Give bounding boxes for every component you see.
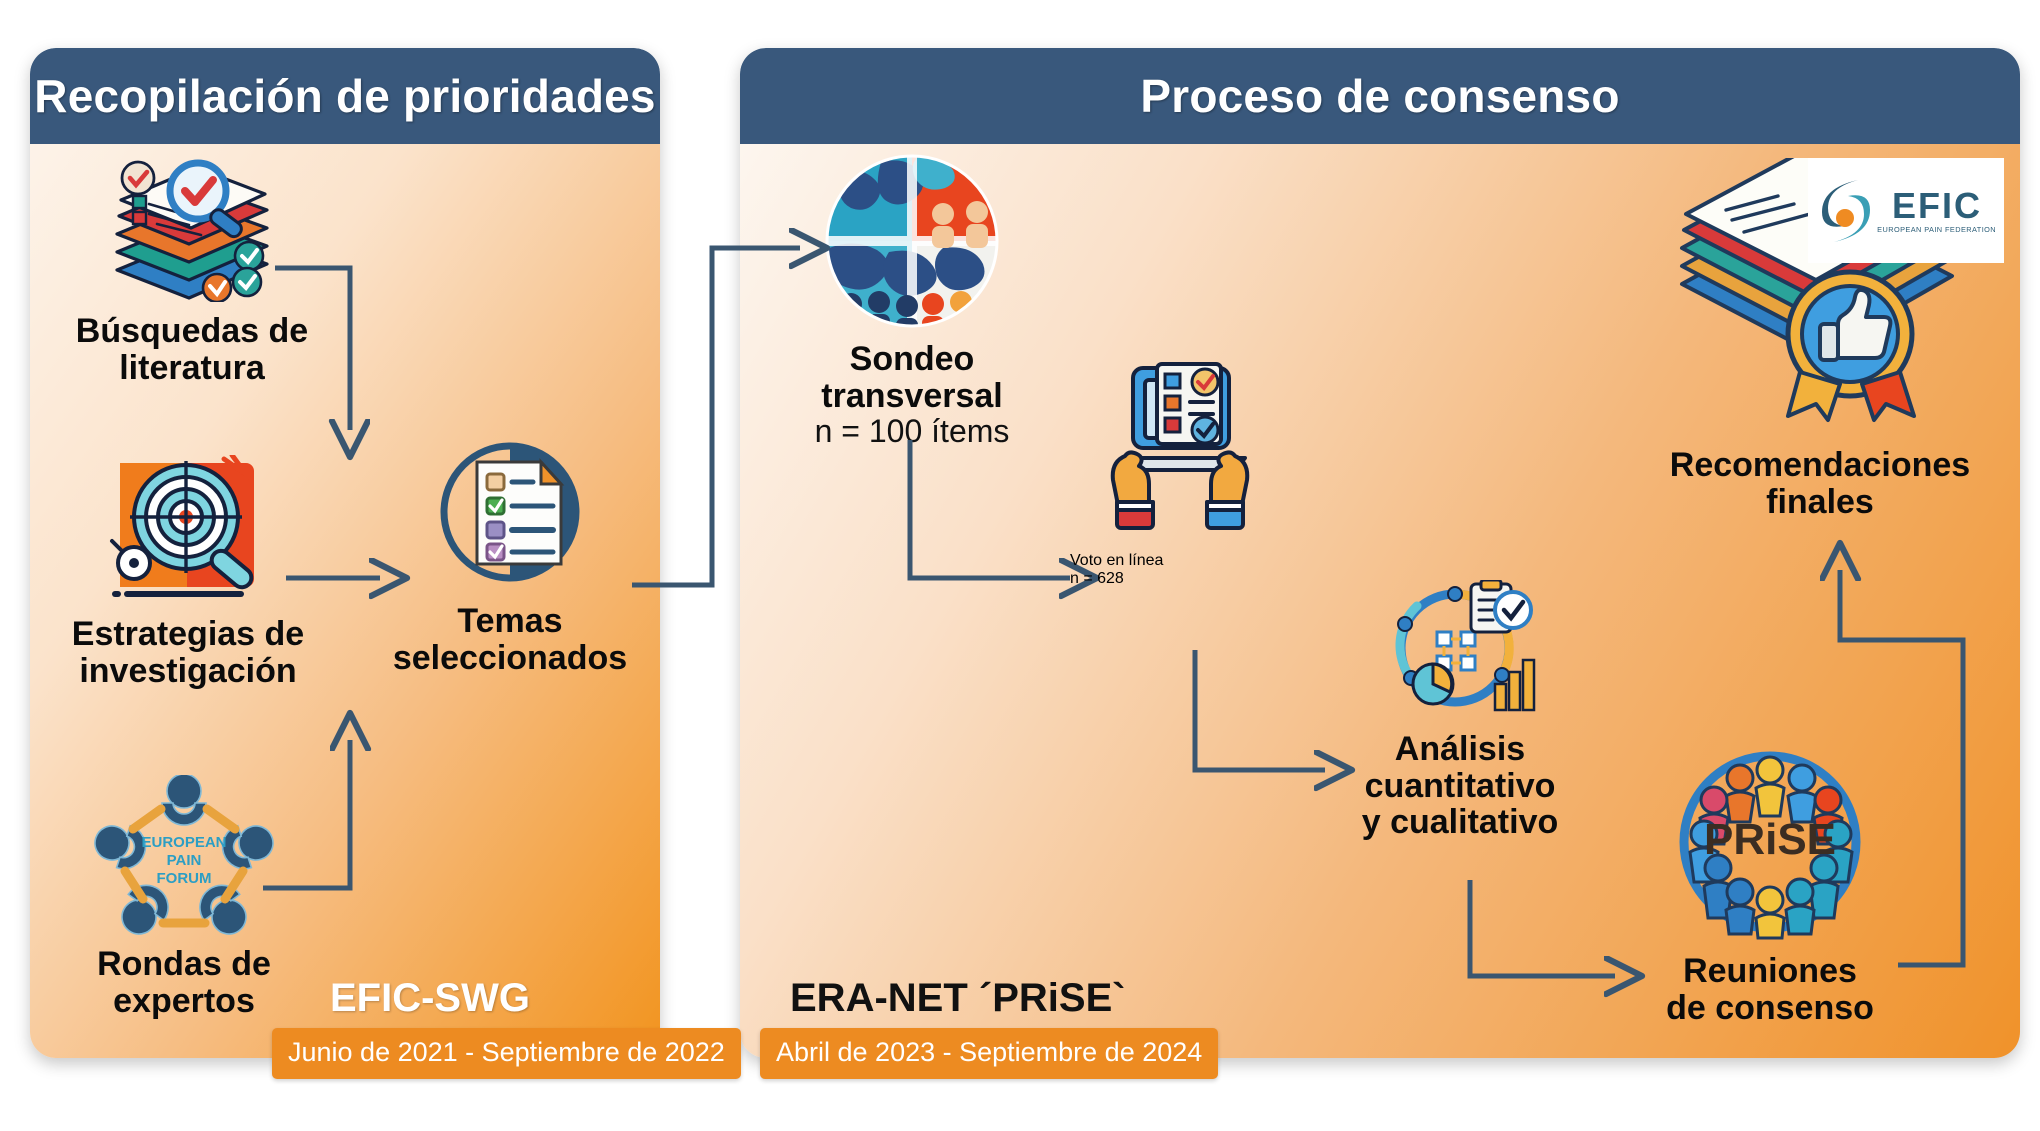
node-selected-topics-label: Temas seleccionados xyxy=(393,603,627,676)
date-badge-left: Junio de 2021 - Septiembre de 2022 xyxy=(272,1028,741,1079)
node-online-vote xyxy=(1010,350,1350,535)
efic-logo-subtitle: EUROPEAN PAIN FEDERATION xyxy=(1878,227,1997,234)
analytics-chart-icon xyxy=(1375,580,1545,725)
date-badge-right: Abril de 2023 - Septiembre de 2024 xyxy=(760,1028,1218,1079)
node-online-vote-text: Voto en línea n = 628 xyxy=(1070,552,1370,588)
efic-logo-text: EFIC xyxy=(1892,188,1982,224)
epf-line3: FORUM xyxy=(157,870,212,887)
european-pain-forum-logo-icon: EUROPEAN PAIN FORUM xyxy=(89,775,279,940)
node-online-vote-label: Voto en línea xyxy=(1070,552,1370,570)
node-research-strategies: Estrategias de investigación xyxy=(38,455,338,689)
node-consensus-meetings: PRiSE Reuniones de consenso xyxy=(1620,742,1920,1026)
epf-line1: EUROPEAN xyxy=(141,834,226,851)
efic-swoosh-icon xyxy=(1818,176,1874,246)
node-expert-rounds-label: Rondas de expertos xyxy=(97,946,271,1019)
panel-right-header: Proceso de consenso xyxy=(740,48,2020,144)
prise-logo-icon: PRiSE xyxy=(1670,742,1870,947)
prise-logo-text: PRiSE xyxy=(1704,815,1836,864)
panel-left-header: Recopilación de prioridades xyxy=(30,48,660,144)
node-survey-label: Sondeo transversal xyxy=(821,341,1002,414)
panel-right-title: Proceso de consenso xyxy=(1140,69,1619,123)
document-stack-search-icon xyxy=(97,152,287,307)
label-era-net-prise: ERA-NET ´PRiSE` xyxy=(790,976,1126,1021)
globe-people-icon xyxy=(823,152,1001,335)
efic-logo: EFIC EUROPEAN PAIN FEDERATION xyxy=(1808,158,2004,263)
hands-ballot-icon xyxy=(1095,350,1265,535)
node-consensus-meetings-label: Reuniones de consenso xyxy=(1666,953,1874,1026)
epf-line2: PAIN xyxy=(167,852,202,869)
label-efic-swg: EFIC-SWG xyxy=(330,976,530,1021)
node-expert-rounds: EUROPEAN PAIN FORUM Rondas de expertos xyxy=(34,775,334,1019)
node-final-recommendations-label: Recomendaciones finales xyxy=(1670,447,1970,520)
node-research-strategies-label: Estrategias de investigación xyxy=(72,616,304,689)
node-selected-topics: Temas seleccionados xyxy=(360,432,660,676)
node-analysis: Análisis cuantitativo y cualitativo xyxy=(1300,580,1620,841)
node-literature-label: Búsquedas de literatura xyxy=(76,313,308,386)
checklist-circle-icon xyxy=(415,432,605,597)
node-survey-sample-size: n = 100 ítems xyxy=(815,414,1010,449)
node-online-vote-sample-size: n = 628 xyxy=(1070,570,1370,588)
infographic-canvas: Recopilación de prioridades Proceso de c… xyxy=(0,0,2040,1131)
panel-left-title: Recopilación de prioridades xyxy=(34,69,655,123)
target-magnifier-icon xyxy=(98,455,278,610)
node-literature-searches: Búsquedas de literatura xyxy=(42,152,342,386)
node-analysis-label: Análisis cuantitativo y cualitativo xyxy=(1362,731,1559,841)
